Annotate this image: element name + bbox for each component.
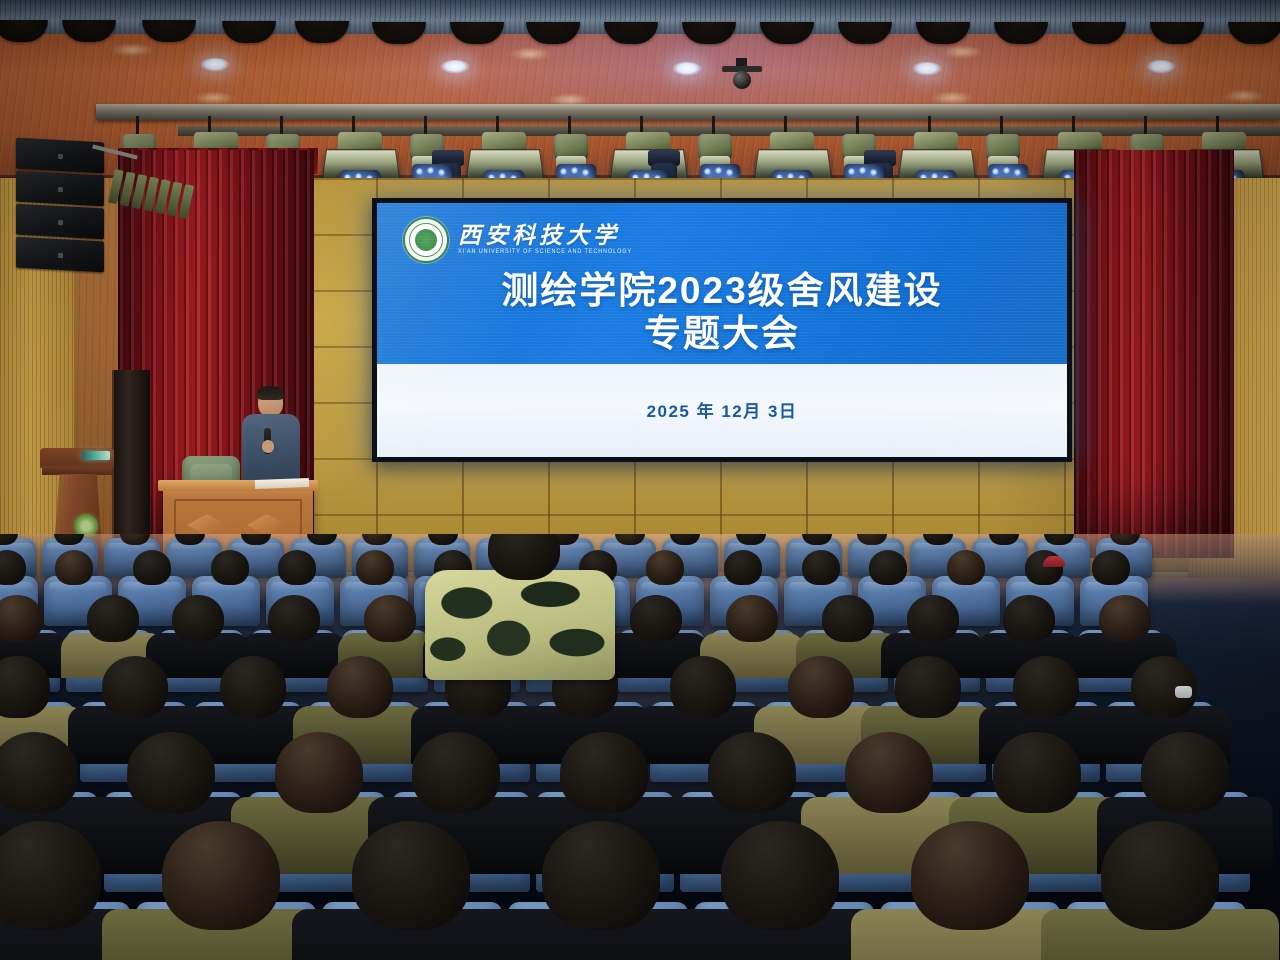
audience-head: [220, 656, 287, 718]
downlight: [200, 58, 230, 72]
audience-head: [211, 550, 249, 585]
slide-date: 2025 年 12月 3日: [377, 397, 1067, 422]
audience-head: [708, 732, 796, 813]
audience-head: [993, 732, 1081, 813]
downlight: [672, 62, 702, 76]
audience-head: [127, 732, 215, 813]
audience-head: [726, 595, 778, 642]
audience-head: [721, 821, 840, 930]
audience-head: [162, 821, 281, 930]
audience-head: [352, 821, 471, 930]
led-display-screen: 西安科技大学 XI'AN UNIVERSITY OF SCIENCE AND T…: [372, 198, 1072, 462]
downlight: [912, 62, 942, 76]
audience-head: [646, 550, 684, 585]
audience-head: [488, 534, 560, 580]
audience-camo-jacket: [425, 570, 615, 680]
recessed-light: [1222, 90, 1266, 103]
audience-head: [911, 821, 1030, 930]
audience-head: [802, 550, 840, 585]
audience-head: [542, 821, 661, 930]
audience-head: [1013, 656, 1080, 718]
audience-head: [356, 550, 394, 585]
audience-head: [1099, 595, 1151, 642]
slide-title-line2: 专题大会: [377, 312, 1067, 355]
audience-head: [845, 732, 933, 813]
audience-head: [268, 595, 320, 642]
slide-title: 测绘学院2023级舍风建设 专题大会: [377, 269, 1067, 356]
audience-head: [907, 595, 959, 642]
audience-head: [327, 656, 394, 718]
slide-title-line1: 测绘学院2023级舍风建设: [377, 269, 1067, 312]
audience-head: [1092, 550, 1130, 585]
audience-head: [133, 550, 171, 585]
line-array-speaker: [16, 138, 104, 273]
audience-head: [560, 732, 648, 813]
audience-head: [724, 550, 762, 585]
ceiling-camera-icon: [722, 58, 762, 92]
audience-red-cap: [1043, 556, 1065, 567]
papers-on-table: [255, 478, 309, 489]
audience-head: [869, 550, 907, 585]
university-name-en: XI'AN UNIVERSITY OF SCIENCE AND TECHNOLO…: [458, 250, 632, 256]
audience-head: [1003, 595, 1055, 642]
audience-face-mask: [1175, 686, 1192, 698]
audience-head: [0, 595, 43, 642]
audience-head: [630, 595, 682, 642]
university-emblem-icon: [403, 217, 449, 263]
university-logo-row: 西安科技大学 XI'AN UNIVERSITY OF SCIENCE AND T…: [403, 217, 632, 263]
downlight: [1146, 60, 1176, 74]
audience-head: [172, 595, 224, 642]
audience-head: [1141, 732, 1229, 813]
auditorium-photo: 西安科技大学 XI'AN UNIVERSITY OF SCIENCE AND T…: [0, 0, 1280, 960]
recessed-light: [940, 46, 984, 59]
audience-seating-area: [0, 534, 1280, 960]
audience-head: [895, 656, 962, 718]
recessed-light: [508, 48, 552, 61]
audience-head: [87, 595, 139, 642]
stage-curtain-right: [1074, 150, 1234, 558]
audience-head: [412, 732, 500, 813]
audience-head: [788, 656, 855, 718]
downlight: [440, 60, 470, 74]
lectern-display: [82, 451, 110, 460]
audience-head: [102, 656, 169, 718]
audience-head: [275, 732, 363, 813]
lighting-truss: [96, 104, 1280, 120]
audience-head: [364, 595, 416, 642]
audience-head: [1101, 821, 1220, 930]
audience-head: [278, 550, 316, 585]
audience-head: [947, 550, 985, 585]
audience-head: [670, 656, 737, 718]
audience-head: [55, 550, 93, 585]
audience-head: [822, 595, 874, 642]
recessed-light: [110, 44, 154, 57]
university-name-cn: 西安科技大学: [458, 224, 632, 247]
